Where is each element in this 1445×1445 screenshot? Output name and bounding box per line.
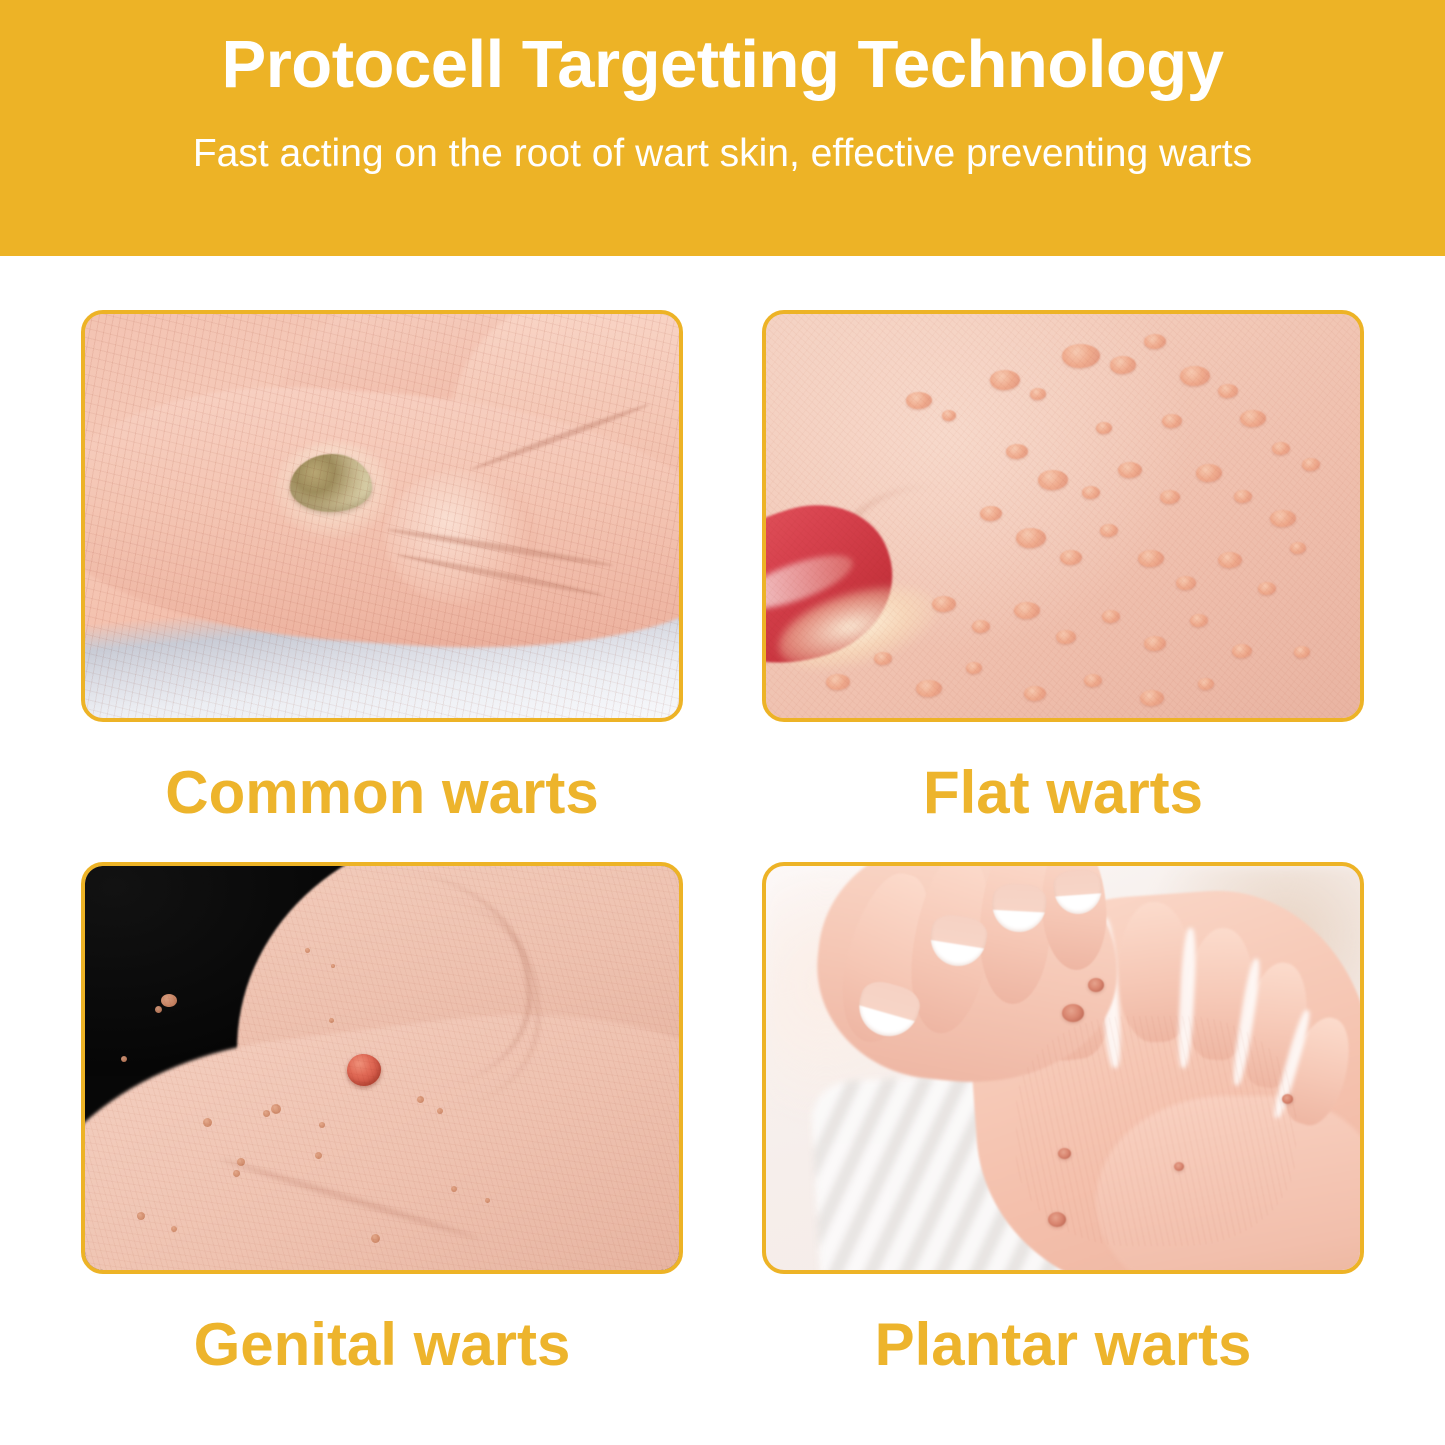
genital-warts-photo-frame [81, 862, 683, 1274]
wart-type-card-plantar: Plantar warts [762, 862, 1364, 1414]
common-warts-photo [85, 314, 679, 718]
wart-type-card-common: Common warts [81, 310, 683, 862]
plantar-wart-lesions [766, 866, 1360, 1270]
card-caption-genital-warts: Genital warts [194, 1312, 571, 1378]
card-caption-plantar-warts: Plantar warts [875, 1312, 1252, 1378]
skin-texture-overlay [766, 314, 1360, 718]
header-banner: Protocell Targetting Technology Fast act… [0, 0, 1445, 256]
plantar-warts-photo-frame [762, 862, 1364, 1274]
wart-type-card-flat: Flat warts [762, 310, 1364, 862]
flat-warts-photo [766, 314, 1360, 718]
flat-warts-photo-frame [762, 310, 1364, 722]
page-title: Protocell Targetting Technology [222, 26, 1224, 103]
genital-warts-photo [85, 866, 679, 1270]
plantar-warts-photo [766, 866, 1360, 1270]
skin-texture-overlay [85, 314, 679, 718]
wart-type-card-genital: Genital warts [81, 862, 683, 1414]
skin-texture-overlay [85, 866, 679, 1270]
card-caption-flat-warts: Flat warts [923, 760, 1203, 826]
wart-types-grid: Common warts [0, 256, 1445, 1414]
common-warts-photo-frame [81, 310, 683, 722]
page-subtitle: Fast acting on the root of wart skin, ef… [193, 131, 1252, 178]
card-caption-common-warts: Common warts [165, 760, 598, 826]
